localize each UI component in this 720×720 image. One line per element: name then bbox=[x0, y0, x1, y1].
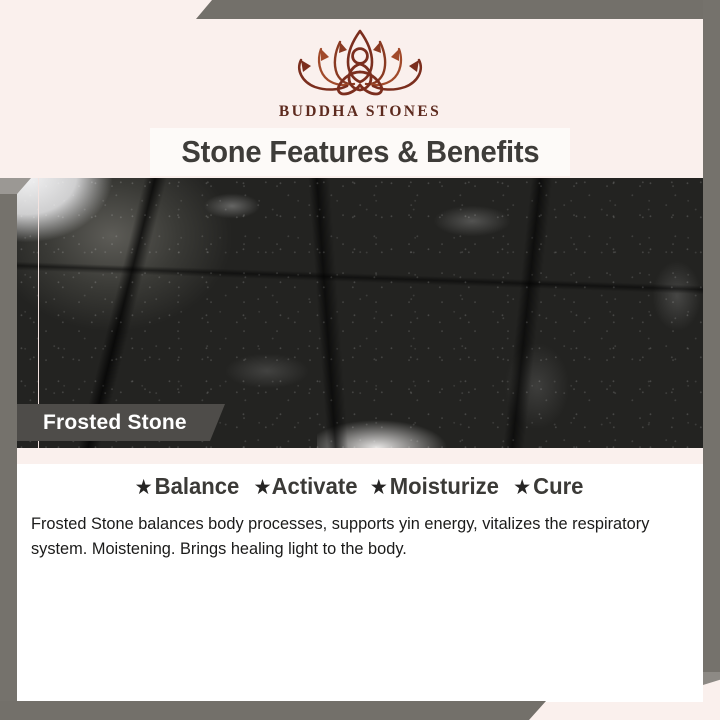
frame-top-bar bbox=[196, 0, 720, 19]
lotus-meditation-icon bbox=[277, 24, 443, 98]
brand-name: BUDDHA STONES bbox=[279, 103, 441, 121]
star-icon: ★ bbox=[254, 476, 272, 499]
photo-backdrop-highlight-2 bbox=[317, 398, 497, 448]
benefit-label-activate: Activate bbox=[272, 473, 358, 499]
benefit-label-cure: Cure bbox=[533, 473, 583, 499]
frame-left-bar bbox=[0, 178, 17, 720]
page-title: Stone Features & Benefits bbox=[181, 134, 539, 170]
star-icon: ★ bbox=[370, 476, 388, 499]
stone-name-badge: Frosted Stone bbox=[17, 404, 225, 441]
divider-strip bbox=[17, 448, 703, 464]
star-icon: ★ bbox=[513, 476, 531, 499]
page-title-plate: Stone Features & Benefits bbox=[150, 128, 570, 176]
star-icon: ★ bbox=[135, 476, 153, 499]
stone-name-label: Frosted Stone bbox=[43, 411, 187, 435]
frame-bottom-bar bbox=[0, 701, 546, 720]
brand-logo: BUDDHA STONES bbox=[0, 24, 720, 121]
stone-description: Frosted Stone balances body processes, s… bbox=[31, 511, 679, 561]
frame-right-bar bbox=[703, 0, 720, 672]
benefits-list: ★Balance ★Activate ★Moisturize ★Cure bbox=[31, 473, 690, 500]
content-section: ★Balance ★Activate ★Moisturize ★Cure Fro… bbox=[17, 464, 703, 702]
frame-right-bevel bbox=[703, 672, 720, 685]
infographic-card: BUDDHA STONES Stone Features & Benefits … bbox=[0, 0, 720, 720]
benefit-label-moisturize: Moisturize bbox=[390, 473, 499, 499]
benefit-label-balance: Balance bbox=[155, 473, 240, 499]
photo-backdrop-highlight bbox=[17, 176, 152, 271]
